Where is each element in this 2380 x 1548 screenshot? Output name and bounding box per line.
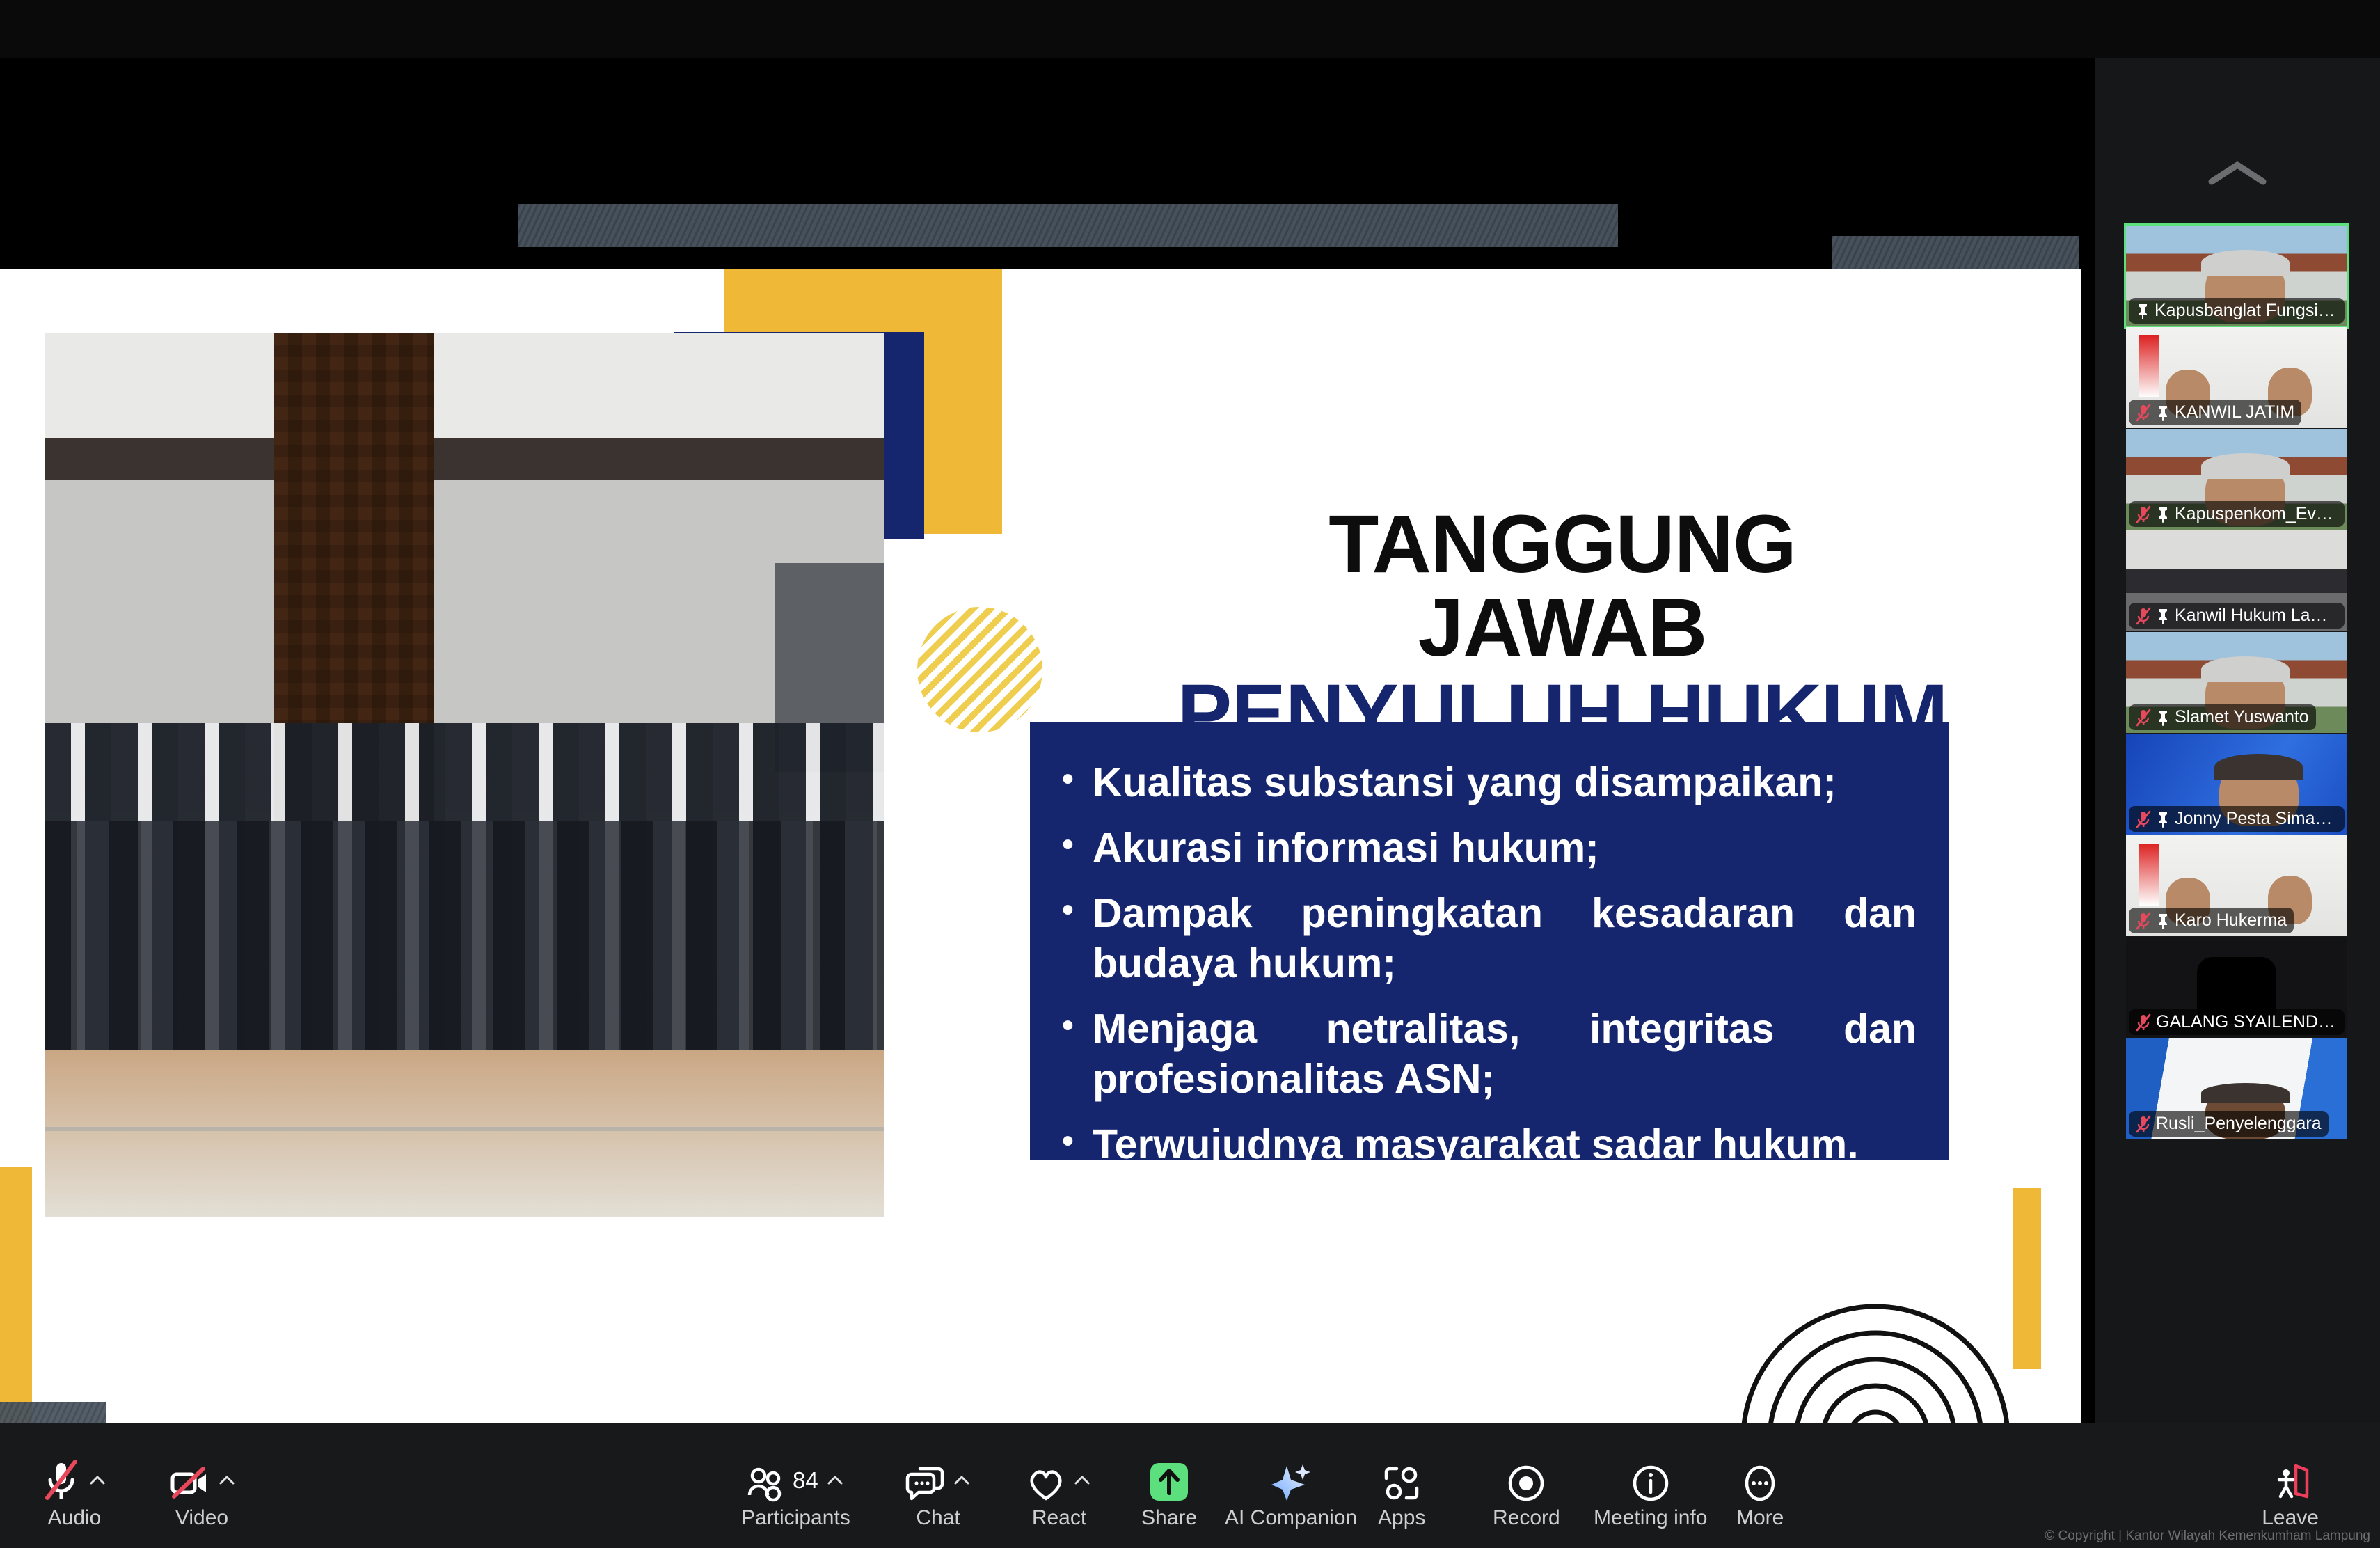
copyright-text: © Copyright | Kantor Wilayah Kemenkumham…: [2045, 1529, 2370, 1544]
participant-name: Rusli_Penyelenggara: [2156, 1114, 2322, 1134]
obscured-region-top-right: [1832, 236, 2079, 272]
participant-tile[interactable]: Rusli_Penyelenggara: [2126, 1038, 2347, 1139]
bullet-marker: •: [1062, 1120, 1093, 1170]
video-options-caret-icon[interactable]: [217, 1471, 237, 1490]
ai-companion-label: AI Companion: [1225, 1506, 1357, 1530]
participant-tile[interactable]: Kapuspenkom_Eva...: [2126, 429, 2347, 530]
meeting-toolbar: Audio Video: [0, 1423, 2380, 1548]
participant-name-badge: Kanwil Hukum Lam...: [2129, 603, 2345, 629]
participant-name: GALANG SYAILENDRA: [2156, 1012, 2338, 1032]
slide-title-line-1: TANGGUNG JAWAB: [1176, 503, 1949, 670]
participants-caret-icon[interactable]: [825, 1471, 845, 1490]
record-label: Record: [1493, 1506, 1560, 1530]
people-icon: [747, 1459, 786, 1502]
bullet-marker: •: [1062, 889, 1093, 989]
audio-label: Audio: [48, 1506, 102, 1530]
record-button[interactable]: Record: [1493, 1459, 1560, 1530]
participant-name: Slamet Yuswanto: [2175, 707, 2309, 727]
slide-bullet: • Menjaga netralitas, integritas dan pro…: [1062, 1004, 1917, 1105]
participant-name-badge: KANWIL JATIM: [2129, 400, 2301, 425]
ellipsis-icon: [1741, 1459, 1779, 1502]
react-caret-icon[interactable]: [1072, 1471, 1092, 1490]
participants-count: 84: [793, 1467, 818, 1494]
participant-name: Jonny Pesta Simam...: [2175, 809, 2338, 829]
participant-name-badge: Kapuspenkom_Eva...: [2129, 501, 2345, 527]
decor-yellow-rect-right: [2013, 1188, 2041, 1369]
bullet-marker: •: [1062, 758, 1093, 808]
participant-name-badge: Jonny Pesta Simam...: [2129, 806, 2345, 832]
microphone-muted-icon: [42, 1459, 81, 1502]
ai-companion-button[interactable]: AI Companion: [1225, 1459, 1357, 1530]
info-circle-icon: [1632, 1459, 1669, 1502]
presentation-slide: TANGGUNG JAWAB PENYULUH HUKUM • Kualitas…: [0, 269, 2081, 1423]
participant-name: Kapusbanglat Fungsio...: [2155, 301, 2338, 321]
apps-label: Apps: [1378, 1506, 1425, 1530]
participant-name-badge: Rusli_Penyelenggara: [2129, 1111, 2329, 1137]
decor-yellow-rect-left: [0, 1167, 32, 1423]
participants-label: Participants: [741, 1506, 850, 1530]
participants-button[interactable]: 84 Participants: [741, 1459, 850, 1530]
audio-options-caret-icon[interactable]: [88, 1471, 107, 1490]
chat-bubble-icon: [905, 1459, 945, 1502]
chevron-up-icon[interactable]: [2095, 135, 2380, 212]
slide-bullet: • Akurasi informasi hukum;: [1062, 823, 1917, 874]
audio-button[interactable]: Audio: [42, 1459, 107, 1530]
slide-bullet: • Kualitas substansi yang disampaikan;: [1062, 758, 1917, 808]
shared-screen-stage: TANGGUNG JAWAB PENYULUH HUKUM • Kualitas…: [0, 58, 2095, 1423]
more-button[interactable]: More: [1736, 1459, 1784, 1530]
video-button[interactable]: Video: [167, 1459, 237, 1530]
chat-button[interactable]: Chat: [905, 1459, 971, 1530]
video-label: Video: [175, 1506, 228, 1530]
participant-name: Kanwil Hukum Lam...: [2175, 606, 2338, 626]
meeting-info-button[interactable]: Meeting info: [1594, 1459, 1707, 1530]
slide-bullet-panel: • Kualitas substansi yang disampaikan; •…: [1030, 722, 1949, 1160]
share-screen-arrow-icon: [1149, 1459, 1189, 1502]
participant-tile[interactable]: Kanwil Hukum Lam...: [2126, 530, 2347, 631]
apps-button[interactable]: Apps: [1378, 1459, 1425, 1530]
participant-name: Kapuspenkom_Eva...: [2175, 504, 2338, 524]
more-label: More: [1736, 1506, 1784, 1530]
participant-name-badge: Karo Hukerma: [2129, 908, 2294, 933]
react-label: React: [1032, 1506, 1086, 1530]
bullet-text: Akurasi informasi hukum;: [1093, 823, 1917, 874]
obscured-region-bottom-left: [0, 1402, 106, 1423]
decor-striped-circle: [917, 607, 1042, 732]
slide-bullet: • Dampak peningkatan kesadaran dan buday…: [1062, 889, 1917, 989]
share-label: Share: [1141, 1506, 1197, 1530]
participant-name-badge: Kapusbanglat Fungsio...: [2129, 298, 2345, 324]
camera-off-icon: [167, 1459, 210, 1502]
slide-bullet: • Terwujudnya masyarakat sadar hukum.: [1062, 1120, 1917, 1170]
meeting-info-label: Meeting info: [1594, 1506, 1707, 1530]
bullet-text: Dampak peningkatan kesadaran dan budaya …: [1093, 889, 1917, 989]
slide-photo: [45, 333, 884, 1217]
participant-tile[interactable]: Slamet Yuswanto: [2126, 632, 2347, 733]
chat-label: Chat: [916, 1506, 960, 1530]
slide-title: TANGGUNG JAWAB PENYULUH HUKUM: [1176, 503, 1949, 757]
leave-door-icon: [2271, 1459, 2310, 1502]
leave-button[interactable]: Leave: [2262, 1459, 2319, 1530]
participant-thumbnail-list[interactable]: Kapusbanglat Fungsio... KANWIL JATIM Kap…: [2099, 226, 2374, 1140]
participant-name-badge: GALANG SYAILENDRA: [2129, 1009, 2345, 1035]
participant-tile[interactable]: Jonny Pesta Simam...: [2126, 734, 2347, 835]
bullet-text: Kualitas substansi yang disampaikan;: [1093, 758, 1917, 808]
bullet-text: Menjaga netralitas, integritas dan profe…: [1093, 1004, 1917, 1105]
participant-name: Karo Hukerma: [2175, 910, 2287, 931]
share-button[interactable]: Share: [1141, 1459, 1197, 1530]
decor-concentric-arcs: [1736, 1300, 2015, 1423]
bullet-marker: •: [1062, 1004, 1093, 1105]
participant-rail: Kapusbanglat Fungsio... KANWIL JATIM Kap…: [2095, 58, 2380, 1423]
chat-caret-icon[interactable]: [952, 1471, 971, 1490]
sparkle-icon: [1270, 1459, 1312, 1502]
apps-icon: [1383, 1459, 1420, 1502]
record-circle-icon: [1507, 1459, 1545, 1502]
bullet-marker: •: [1062, 823, 1093, 874]
leave-label: Leave: [2262, 1506, 2319, 1530]
participant-name: KANWIL JATIM: [2175, 402, 2294, 422]
obscured-region-top: [518, 204, 1618, 247]
participant-name-badge: Slamet Yuswanto: [2129, 704, 2316, 730]
bullet-text: Terwujudnya masyarakat sadar hukum.: [1093, 1120, 1917, 1170]
heart-icon: [1026, 1459, 1065, 1502]
participant-tile[interactable]: Karo Hukerma: [2126, 835, 2347, 936]
react-button[interactable]: React: [1026, 1459, 1092, 1530]
top-bar: [0, 0, 2380, 58]
participant-tile[interactable]: Kapusbanglat Fungsio...: [2126, 226, 2347, 326]
participant-tile[interactable]: GALANG SYAILENDRA: [2126, 937, 2347, 1038]
participant-tile[interactable]: KANWIL JATIM: [2126, 327, 2347, 428]
